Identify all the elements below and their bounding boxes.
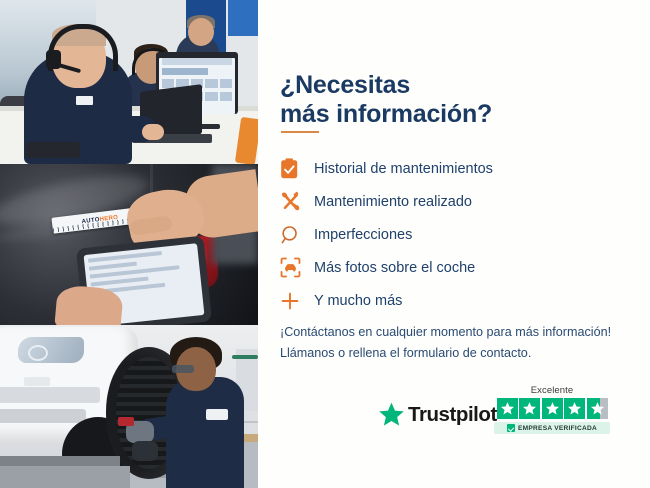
feature-item-maintenance-done: Mantenimiento realizado — [280, 185, 610, 218]
hose-decor — [232, 355, 258, 359]
car-inspection-ruler-photo: AUTOHERO — [0, 164, 258, 325]
feature-item-much-more: Y mucho más — [280, 284, 610, 317]
trustpilot-wordmark: Trustpilot — [408, 403, 497, 427]
verified-company-badge: EMPRESA VERIFICADA — [494, 422, 610, 434]
feature-label: Y mucho más — [314, 293, 402, 309]
star-5-partial — [587, 398, 608, 419]
trustpilot-score-block: Excelente EMPRESA VERIFICADA — [494, 385, 610, 434]
call-center-agents-photo — [0, 0, 258, 164]
page-title-line-2: más información? — [280, 100, 530, 129]
feature-item-imperfections: Imperfecciones — [280, 218, 610, 251]
feature-label: Más fotos sobre el coche — [314, 260, 475, 276]
feature-item-more-photos: Más fotos sobre el coche — [280, 251, 610, 284]
feature-label: Imperfecciones — [314, 227, 412, 243]
hand-tool-decor — [118, 417, 134, 426]
star-4 — [564, 398, 585, 419]
mechanic-glove-2 — [132, 441, 158, 461]
trustpilot-stars — [494, 398, 610, 419]
verified-company-label: EMPRESA VERIFICADA — [518, 425, 597, 432]
page-title-line-1: ¿Necesitas — [280, 71, 410, 99]
background-person-3-head — [188, 18, 214, 46]
grille-decor — [0, 387, 100, 403]
information-banner: AUTOHERO — [0, 0, 650, 488]
page-title: ¿Necesitas más información? — [280, 71, 530, 130]
star-2 — [519, 398, 540, 419]
feature-label: Mantenimiento realizado — [314, 194, 472, 210]
tools-wrench-screwdriver-icon — [280, 191, 314, 212]
magnifier-icon — [280, 225, 314, 245]
trustpilot-rating: Trustpilot Excelente EMPRESA VERIFICADA — [378, 385, 628, 451]
blue-panel-decor-2 — [228, 0, 258, 36]
mechanic-wheel-photo — [0, 325, 258, 488]
feature-label: Historial de mantenimientos — [314, 161, 493, 177]
contact-copy: ¡Contáctanos en cualquier momento para m… — [280, 322, 650, 364]
feature-list: Historial de mantenimientos Mantenimient… — [280, 152, 610, 317]
star-3 — [542, 398, 563, 419]
uniform-logo-decor — [206, 409, 228, 420]
trustpilot-logo: Trustpilot — [378, 401, 497, 428]
photo-strip: AUTOHERO — [0, 0, 258, 488]
lift-base-decor — [0, 466, 130, 488]
contact-line-2: Llámanos o rellena el formulario de cont… — [280, 343, 650, 364]
title-divider — [281, 131, 319, 133]
trustpilot-star-icon — [378, 401, 405, 428]
safety-glasses-decor — [172, 365, 194, 373]
grille-decor-2 — [0, 409, 86, 423]
car-photo-frame-icon — [280, 257, 314, 278]
headlight-decor — [18, 337, 84, 363]
contact-line-1: ¡Contáctanos en cualquier momento para m… — [280, 322, 650, 343]
star-1 — [497, 398, 518, 419]
trustpilot-rating-label: Excelente — [494, 385, 610, 396]
clipboard-check-icon — [280, 158, 314, 179]
name-tag-decor — [76, 96, 93, 105]
check-icon — [507, 424, 515, 432]
foreground-agent-hand — [142, 124, 164, 140]
plus-icon — [280, 291, 314, 311]
lift-arm-decor — [0, 456, 120, 466]
desk-tablet-decor — [26, 142, 80, 158]
content-panel: ¿Necesitas más información? Estamos enca… — [258, 0, 650, 488]
plate-decor — [24, 377, 50, 386]
feature-item-maintenance-history: Historial de mantenimientos — [280, 152, 610, 185]
